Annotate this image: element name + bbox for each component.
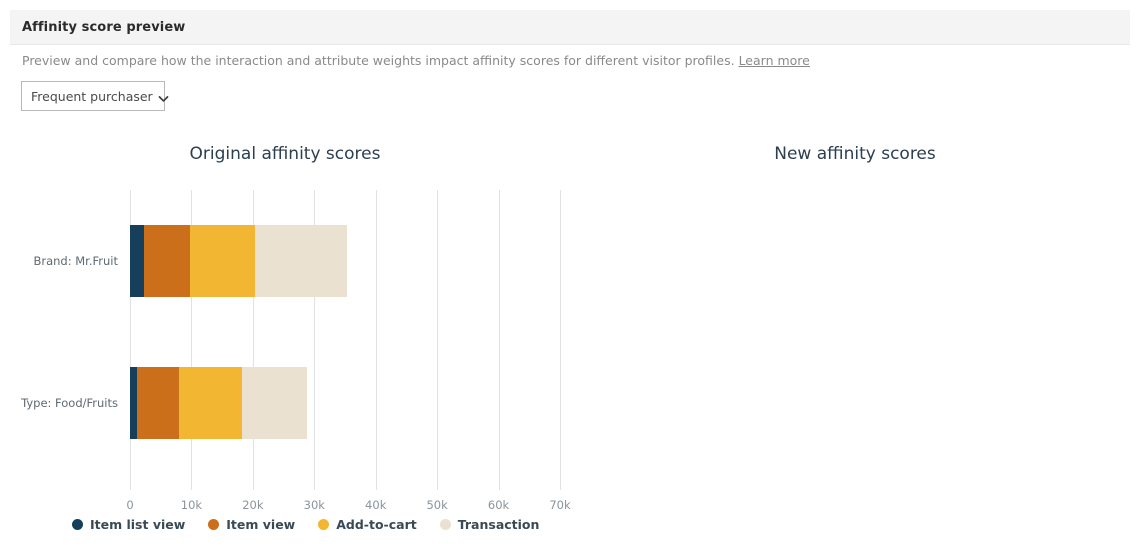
x-axis-tick-mark — [437, 474, 438, 490]
legend-swatch-icon — [208, 519, 219, 530]
plot-area: 010k20k30k40k50k60k70kBrand: Mr.FruitTyp… — [130, 190, 560, 474]
x-axis-tick-label: 40k — [365, 498, 386, 512]
legend-item-label: Add-to-cart — [336, 517, 417, 532]
panel-description-text: Preview and compare how the interaction … — [22, 53, 735, 68]
bar-segment[interactable] — [144, 225, 189, 297]
panel-description: Preview and compare how the interaction … — [22, 53, 810, 68]
chart-new-affinity-scores: New affinity scores 010k20k30k40k50k60k7… — [570, 128, 1140, 548]
x-axis-tick-mark — [499, 474, 500, 490]
x-axis-tick-label: 30k — [304, 498, 325, 512]
y-axis-category-label: Brand: Mr.Fruit — [1135, 254, 1140, 268]
x-axis-tick-mark — [253, 474, 254, 490]
legend-item[interactable]: Transaction — [440, 517, 540, 532]
x-axis-tick-label: 70k — [549, 498, 570, 512]
x-axis-tick-mark — [560, 474, 561, 490]
bar-segment[interactable] — [130, 225, 144, 297]
x-axis-tick-mark — [376, 474, 377, 490]
legend-swatch-icon — [440, 519, 451, 530]
chart-original-affinity-scores: Original affinity scores 010k20k30k40k50… — [0, 128, 570, 548]
legend-item[interactable]: Item view — [208, 517, 295, 532]
chart-title: New affinity scores — [570, 144, 1140, 164]
x-axis-tick-label: 0 — [126, 498, 133, 512]
panel-header: Affinity score preview — [10, 10, 1130, 45]
chevron-down-icon — [157, 90, 170, 103]
bar-segment[interactable] — [190, 225, 256, 297]
bar-segment[interactable] — [242, 367, 307, 439]
page-title: Affinity score preview — [22, 20, 185, 35]
legend-item-label: Item view — [226, 517, 295, 532]
legend-item[interactable]: Add-to-cart — [318, 517, 417, 532]
bar-segment[interactable] — [179, 367, 243, 439]
legend-item-label: Transaction — [458, 517, 540, 532]
x-axis-tick-label: 20k — [242, 498, 263, 512]
x-axis-tick-label: 50k — [426, 498, 447, 512]
chart-title: Original affinity scores — [0, 144, 570, 164]
bar-segment[interactable] — [255, 225, 347, 297]
stacked-bar[interactable] — [130, 225, 560, 297]
visitor-profile-select-value: Frequent purchaser — [31, 89, 153, 104]
x-axis-tick-label: 60k — [488, 498, 509, 512]
gridline — [560, 190, 561, 474]
visitor-profile-select[interactable]: Frequent purchaser — [21, 81, 165, 111]
y-axis-category-label: Type: Food/Fruits — [5, 396, 118, 410]
legend-item[interactable]: Item list view — [72, 517, 185, 532]
legend-swatch-icon — [72, 519, 83, 530]
learn-more-link[interactable]: Learn more — [739, 53, 810, 68]
x-axis-tick-mark — [130, 474, 131, 490]
y-axis-category-label: Brand: Mr.Fruit — [5, 254, 118, 268]
y-axis-category-label: Type: Food/Fruits — [1135, 396, 1140, 410]
stacked-bar[interactable] — [130, 367, 560, 439]
x-axis-tick-mark — [314, 474, 315, 490]
bar-segment[interactable] — [137, 367, 179, 439]
chart-legend: Item list viewItem viewAdd-to-cartTransa… — [72, 517, 562, 532]
bar-segment[interactable] — [130, 367, 137, 439]
x-axis-tick-label: 10k — [181, 498, 202, 512]
x-axis-tick-mark — [191, 474, 192, 490]
legend-item-label: Item list view — [90, 517, 185, 532]
legend-swatch-icon — [318, 519, 329, 530]
